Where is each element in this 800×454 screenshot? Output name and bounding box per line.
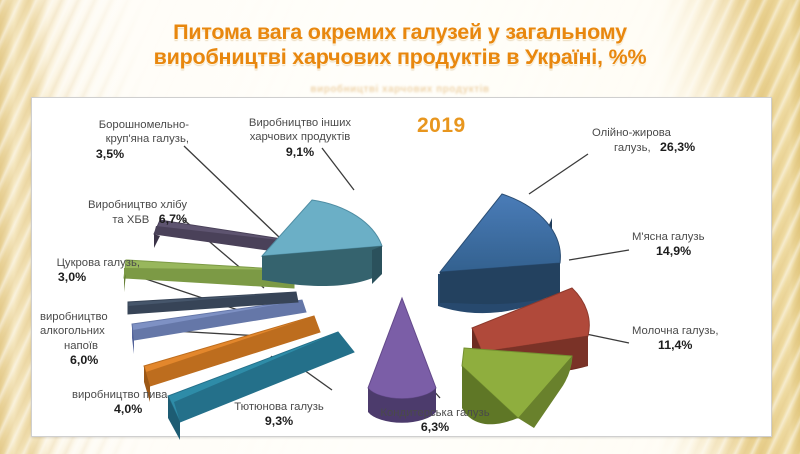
label-sugar-value: 3,0% [58,270,86,284]
slide: Питома вага окремих галузей у загальному… [0,0,800,454]
label-alcohol-name-3: напоїв [40,339,160,353]
label-bread-row-2: та ХБВ 6,7% [27,212,187,228]
label-bread: Виробництво хлібу та ХБВ 6,7% [27,198,187,228]
label-oil-name-2: галузь, [614,142,651,154]
chart-panel: 2019 [31,97,772,437]
label-flour-name-2: круп'яна галузь, [57,132,189,146]
label-alcohol: виробництво алкогольних напоїв 6,0% [40,310,160,369]
label-confect-value: 6,3% [421,420,449,434]
label-bread-name-1: Виробництво хлібу [27,198,187,212]
label-milk: Молочна галузь, 11,4% [632,324,792,354]
label-other-value: 9,1% [286,145,314,159]
label-alcohol-name-2: алкогольних [40,324,160,338]
label-meat-value: 14,9% [656,244,691,258]
slice-oil[interactable] [436,191,560,313]
label-bread-name-2: та ХБВ [112,214,149,226]
label-oil-name-1: Олійно-жирова [592,126,762,140]
label-sugar-name-1: Цукрова галузь, [22,256,140,270]
page-title: Питома вага окремих галузей у загальному… [60,20,740,71]
label-oil-value: 26,3% [660,140,695,154]
label-meat: М'ясна галузь 14,9% [632,230,782,260]
title-line-1: Питома вага окремих галузей у загальному [173,20,627,44]
label-tobacco-value: 9,3% [265,414,293,428]
label-flour-value: 3,5% [96,147,124,161]
label-other-name-2: харчових продуктів [220,130,380,144]
label-oil: Олійно-жирова галузь, 26,3% [592,126,762,156]
label-milk-value: 11,4% [658,338,692,352]
label-other-name-1: Виробництво інших [220,116,380,130]
slice-confect[interactable] [368,298,436,423]
title-line-2: виробництві харчових продуктів в Україні… [60,45,740,70]
label-alcohol-name-1: виробництво [40,310,160,324]
label-meat-name-1: М'ясна галузь [632,230,782,244]
label-tobacco: Тютюнова галузь 9,3% [204,400,354,430]
label-confect: Кондитерська галузь 6,3% [350,406,520,436]
slice-other[interactable] [262,186,384,286]
title-ghost-text: виробництві харчових продуктів [200,84,600,96]
label-milk-name-1: Молочна галузь, [632,324,792,338]
label-bread-value: 6,7% [159,212,187,226]
label-alcohol-value: 6,0% [70,353,98,367]
label-confect-name-1: Кондитерська галузь [350,406,520,420]
label-other: Виробництво інших харчових продуктів 9,1… [220,116,380,161]
label-flour: Борошномельно- круп'яна галузь, 3,5% [57,118,189,163]
label-flour-name-1: Борошномельно- [57,118,189,132]
label-beer-value: 4,0% [114,402,142,416]
label-tobacco-name-1: Тютюнова галузь [204,400,354,414]
label-sugar: Цукрова галузь, 3,0% [22,256,140,286]
